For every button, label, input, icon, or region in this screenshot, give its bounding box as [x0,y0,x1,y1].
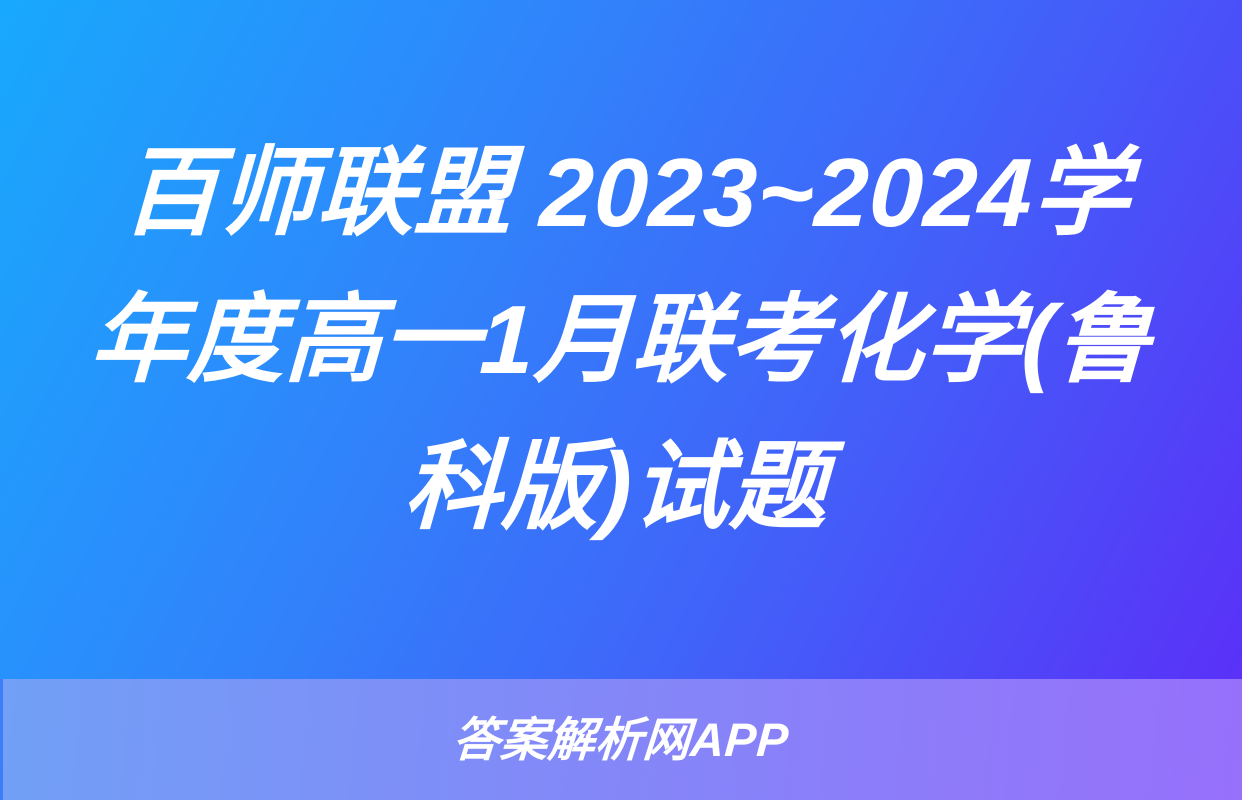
left-edge-accent [0,679,3,800]
title-block: 百师联盟 2023~2024学年度高一1月联考化学(鲁科版)试题 [70,119,1172,560]
exam-paper-cover-poster: 百师联盟 2023~2024学年度高一1月联考化学(鲁科版)试题 答案解析网AP… [0,0,1242,800]
page-title: 百师联盟 2023~2024学年度高一1月联考化学(鲁科版)试题 [62,119,1179,560]
poster-hero-area: 百师联盟 2023~2024学年度高一1月联考化学(鲁科版)试题 [0,0,1242,679]
watermark-band: 答案解析网APP [0,679,1242,800]
app-watermark-label: 答案解析网APP [452,716,791,763]
